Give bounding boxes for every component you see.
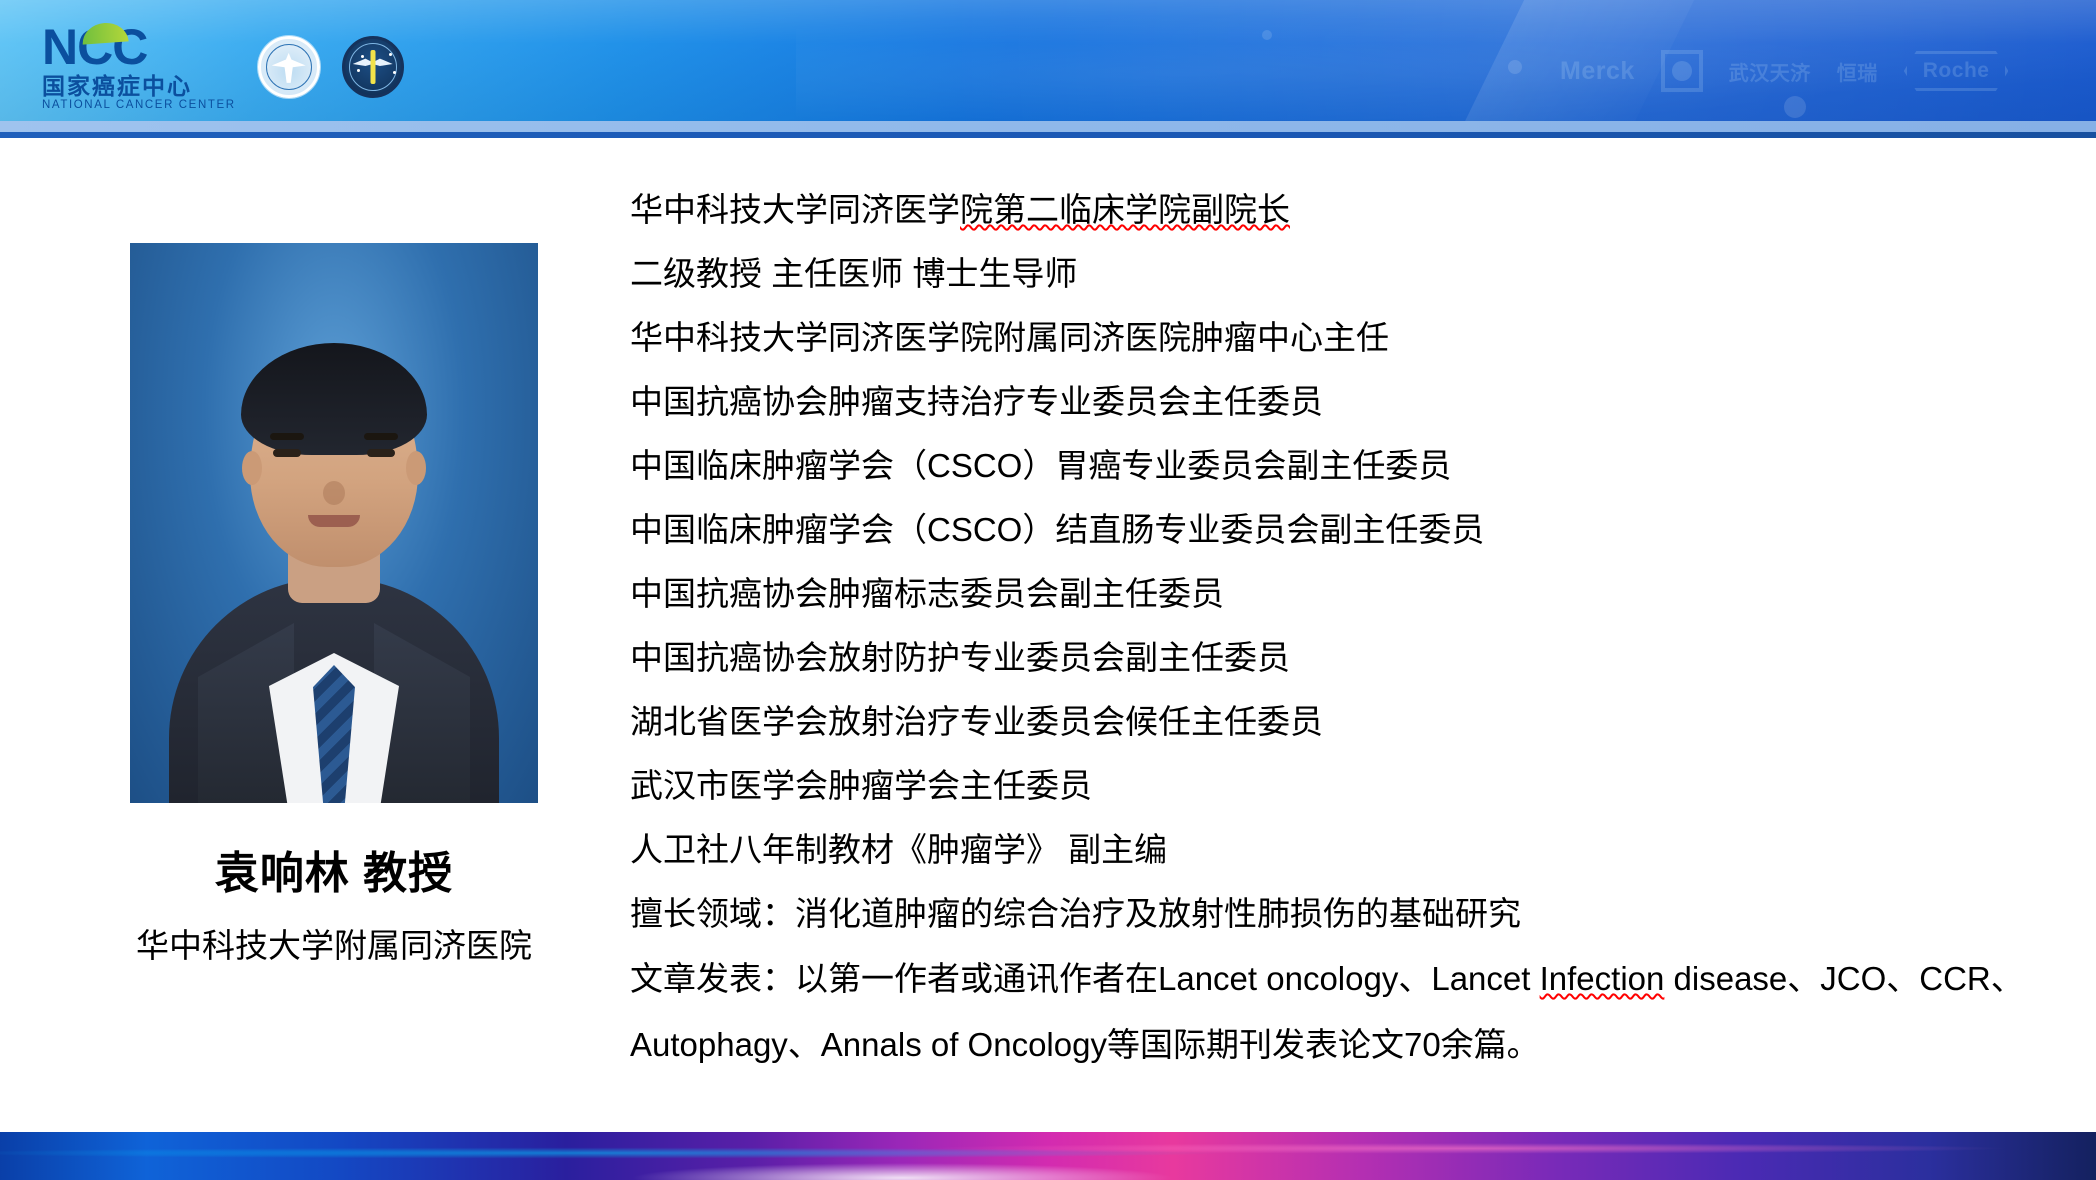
portrait-eyebrow-right xyxy=(364,433,398,440)
speaker-portrait-photo xyxy=(130,243,538,803)
seal-star-icon xyxy=(357,69,360,72)
slide-root: Merck 武汉天济 恒瑞 Roche NCC 国家癌症中心 NATIONAL … xyxy=(0,0,2096,1180)
portrait-eyebrow-left xyxy=(270,433,304,440)
portrait-mouth xyxy=(308,515,360,527)
sponsor-logo-roche: Roche xyxy=(1904,51,2009,91)
speaker-name: 袁响林 教授 xyxy=(130,837,538,901)
bio-line-misspelled-segment: 院第二临床学院副院长 xyxy=(960,191,1290,228)
logo-row: NCC 国家癌症中心 NATIONAL CANCER CENTER xyxy=(42,22,404,112)
speaker-photo-block: 袁响林 教授 华中科技大学附属同济医院 xyxy=(130,243,538,967)
seal-star-icon xyxy=(361,55,364,58)
cams-pumc-seal-icon xyxy=(258,36,320,98)
portrait-ear-right xyxy=(406,451,426,485)
ncc-logo: NCC 国家癌症中心 NATIONAL CANCER CENTER xyxy=(42,22,236,112)
bio-line: 中国临床肿瘤学会（CSCO）胃癌专业委员会副主任委员 xyxy=(630,434,2050,498)
portrait-eye-left xyxy=(273,449,301,457)
bio-line: 擅长领域：消化道肿瘤的综合治疗及放射性肺损伤的基础研究 xyxy=(630,882,2050,946)
bio-publications: 文章发表：以第一作者或通讯作者在Lancet oncology、Lancet I… xyxy=(630,946,2050,1078)
portrait-ear-left xyxy=(242,451,262,485)
bio-line: 中国抗癌协会肿瘤标志委员会副主任委员 xyxy=(630,562,2050,626)
footer-light-burst xyxy=(0,1132,2096,1180)
bio-line: 湖北省医学会放射治疗专业委员会候任主任委员 xyxy=(630,690,2050,754)
bio-line: 中国抗癌协会肿瘤支持治疗专业委员会主任委员 xyxy=(630,370,2050,434)
sponsor-watermarks: Merck 武汉天济 恒瑞 Roche xyxy=(1560,48,2080,94)
ncc-logo-en: NATIONAL CANCER CENTER xyxy=(42,100,236,112)
sponsor-logo-hengrui: 恒瑞 xyxy=(1837,57,1878,86)
header-bokeh-dot xyxy=(1262,30,1272,40)
header-light-streak xyxy=(1436,0,1713,180)
sponsor-logo-mark xyxy=(1661,50,1703,92)
seal-star-icon xyxy=(393,71,396,74)
header-banner: Merck 武汉天济 恒瑞 Roche NCC 国家癌症中心 NATIONAL … xyxy=(0,0,2096,121)
sponsor-logo-merck: Merck xyxy=(1560,57,1635,86)
publications-prefix: 文章发表：以第一作者或通讯作者在Lancet oncology、Lancet xyxy=(630,960,1540,997)
ncc-wordmark: NCC xyxy=(42,22,147,72)
header-divider-light xyxy=(0,121,2096,132)
portrait-eye-right xyxy=(367,449,395,457)
bio-line: 中国抗癌协会放射防护专业委员会副主任委员 xyxy=(630,626,2050,690)
seal-caduceus-icon xyxy=(370,50,375,84)
header-bokeh-dot xyxy=(1784,96,1806,118)
cancer-hospital-seal-icon xyxy=(342,36,404,98)
speaker-bio-list: 华中科技大学同济医学院第二临床学院副院长 二级教授 主任医师 博士生导师 华中科… xyxy=(630,178,2050,1078)
bio-line: 人卫社八年制教材《肿瘤学》 副主编 xyxy=(630,818,2050,882)
publications-misspelled-word: Infection xyxy=(1540,960,1665,997)
ncc-logo-cn: 国家癌症中心 xyxy=(42,75,192,98)
footer-magenta-wave xyxy=(0,1134,2096,1158)
portrait-hair xyxy=(241,343,427,455)
bio-line: 华中科技大学同济医学院第二临床学院副院长 xyxy=(630,178,2050,242)
bio-line: 武汉市医学会肿瘤学会主任委员 xyxy=(630,754,2050,818)
speaker-affiliation: 华中科技大学附属同济医院 xyxy=(130,919,538,967)
bio-line: 二级教授 主任医师 博士生导师 xyxy=(630,242,2050,306)
bio-line: 中国临床肿瘤学会（CSCO）结直肠专业委员会副主任委员 xyxy=(630,498,2050,562)
footer-decorative-bar xyxy=(0,1132,2096,1180)
bio-line: 华中科技大学同济医学院附属同济医院肿瘤中心主任 xyxy=(630,306,2050,370)
dna-background-graphic xyxy=(796,0,2096,121)
portrait-nose xyxy=(323,481,345,505)
header-divider-dark xyxy=(0,132,2096,138)
footer-cyan-wave xyxy=(0,1140,2096,1166)
sponsor-logo-tianji: 武汉天济 xyxy=(1729,57,1811,86)
seal-star-icon xyxy=(389,53,392,56)
header-bokeh-dot xyxy=(1508,60,1522,74)
